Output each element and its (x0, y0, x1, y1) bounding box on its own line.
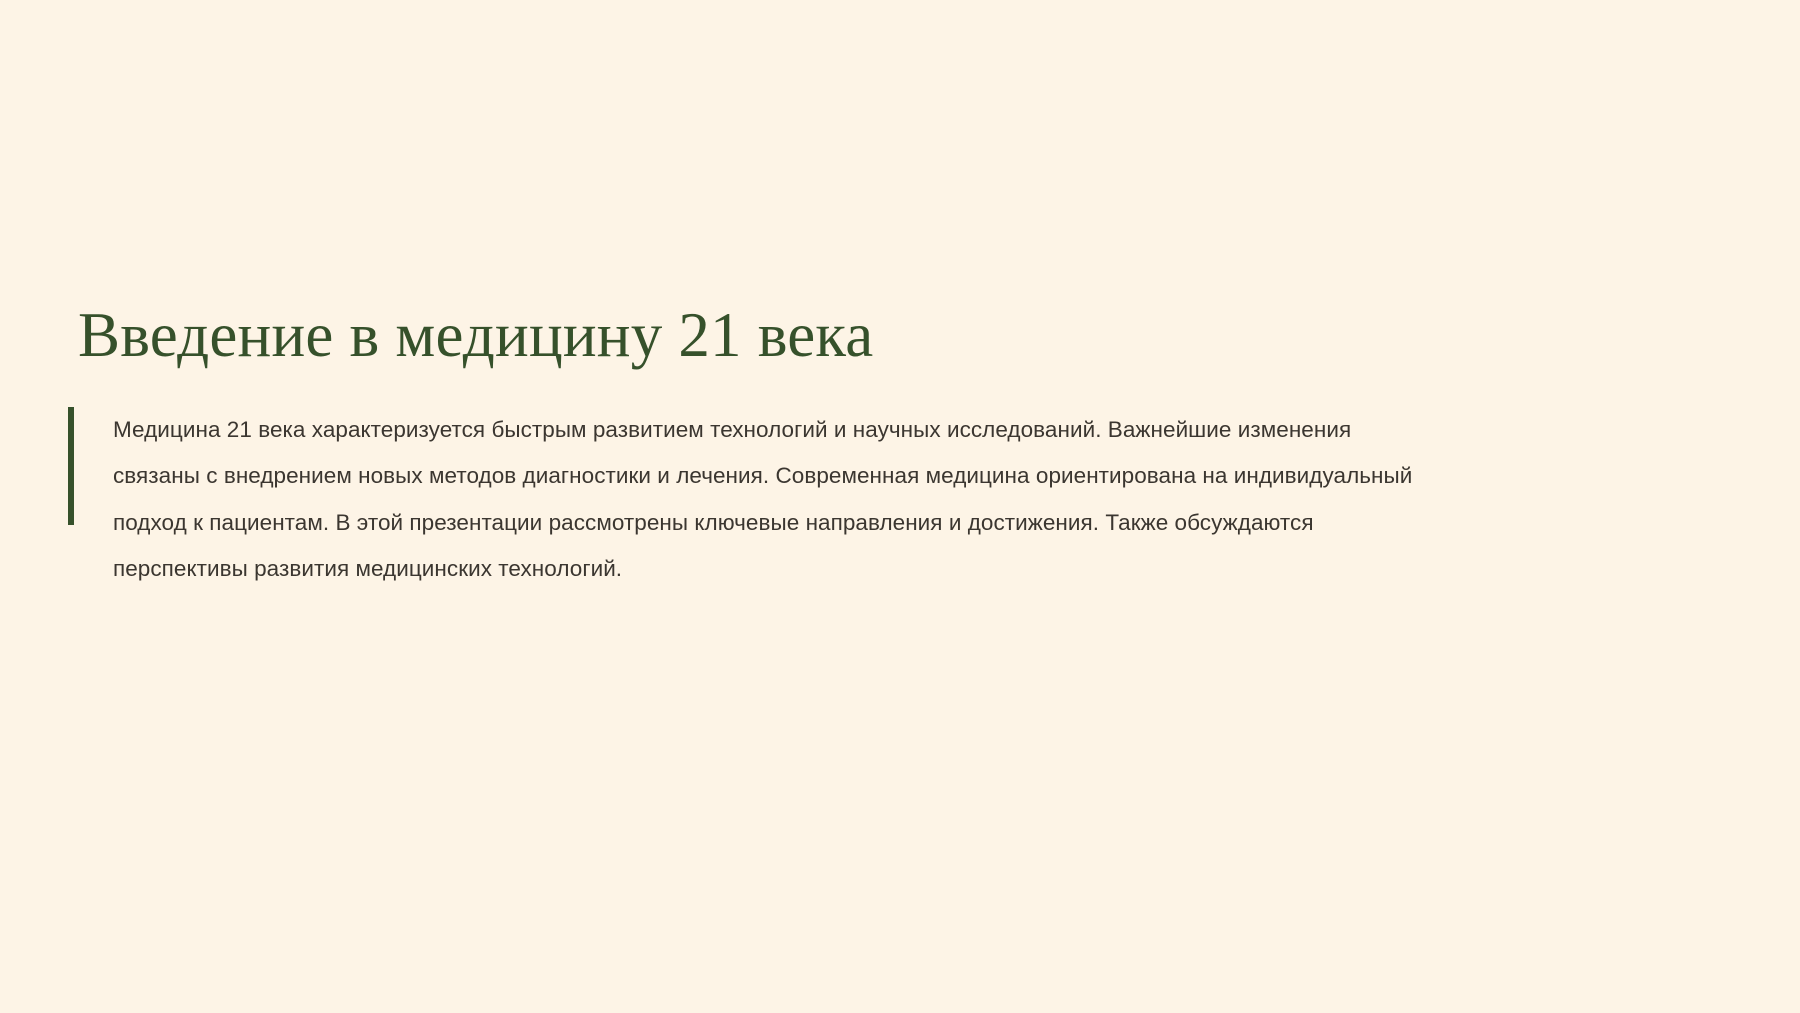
slide-content: Введение в медицину 21 века Медицина 21 … (68, 300, 1468, 593)
slide-title: Введение в медицину 21 века (78, 300, 1468, 371)
slide-canvas: Введение в медицину 21 века Медицина 21 … (0, 0, 1800, 1013)
slide-body-text: Медицина 21 века характеризуется быстрым… (113, 407, 1435, 593)
accent-bar (68, 407, 74, 525)
body-block: Медицина 21 века характеризуется быстрым… (68, 407, 1468, 593)
